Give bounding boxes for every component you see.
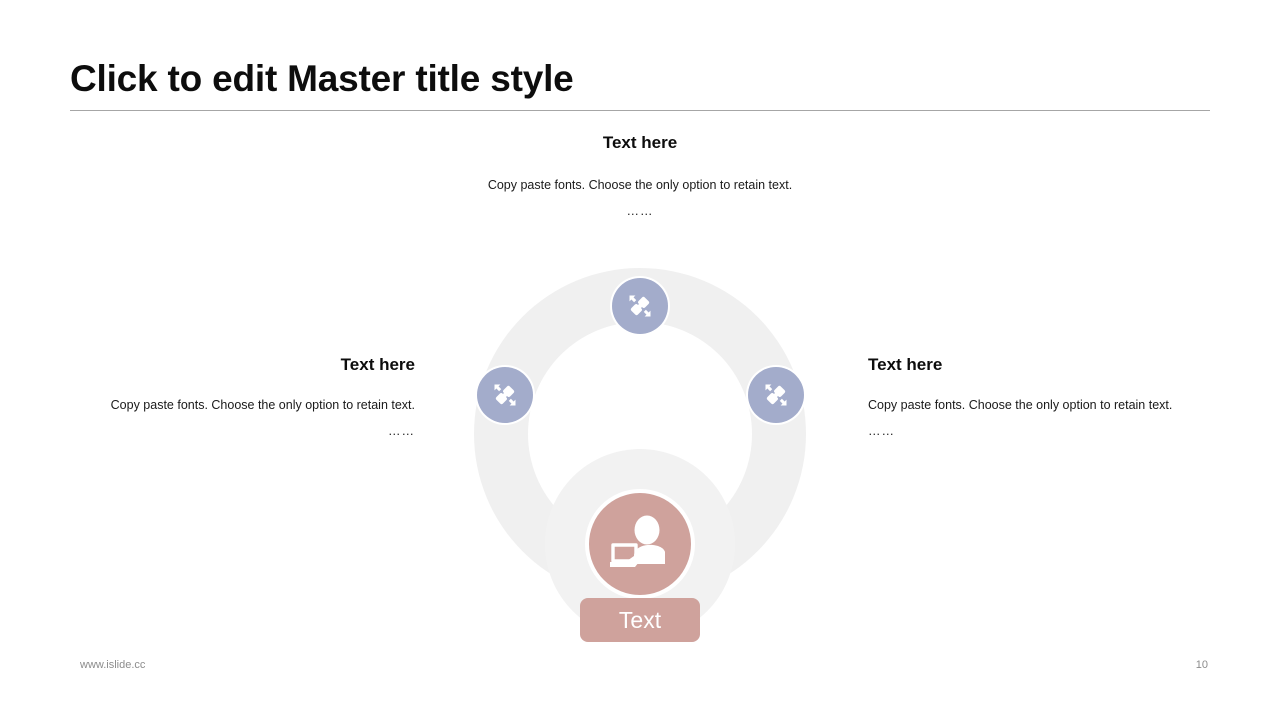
diagram-badge-text[interactable]: Text <box>580 598 700 642</box>
diagram-node-left[interactable] <box>475 365 535 425</box>
text-block-right[interactable]: Text here Copy paste fonts. Choose the o… <box>868 355 1208 445</box>
text-block-left[interactable]: Text here Copy paste fonts. Choose the o… <box>60 355 415 445</box>
text-block-center-body: Copy paste fonts. Choose the only option… <box>470 173 810 199</box>
diagram-node-right[interactable] <box>746 365 806 425</box>
text-block-left-body: Copy paste fonts. Choose the only option… <box>60 393 415 419</box>
text-block-right-body: Copy paste fonts. Choose the only option… <box>868 393 1208 419</box>
page-title[interactable]: Click to edit Master title style <box>70 56 1210 102</box>
text-block-left-dots: …… <box>60 419 415 445</box>
text-block-center-heading: Text here <box>470 133 810 153</box>
title-divider <box>70 110 1210 111</box>
diagram-center-node[interactable] <box>585 489 695 599</box>
diagram-node-top[interactable] <box>610 276 670 336</box>
text-block-left-heading: Text here <box>60 355 415 375</box>
text-block-right-dots: …… <box>868 419 1208 445</box>
diagram-badge-label: Text <box>619 609 661 632</box>
footer-url[interactable]: www.islide.cc <box>80 659 145 671</box>
text-block-right-heading: Text here <box>868 355 1208 375</box>
title-block: Click to edit Master title style <box>70 56 1210 102</box>
text-block-center[interactable]: Text here Copy paste fonts. Choose the o… <box>470 133 810 225</box>
text-block-center-dots: …… <box>470 199 810 225</box>
footer-page-number: 10 <box>1168 659 1208 671</box>
